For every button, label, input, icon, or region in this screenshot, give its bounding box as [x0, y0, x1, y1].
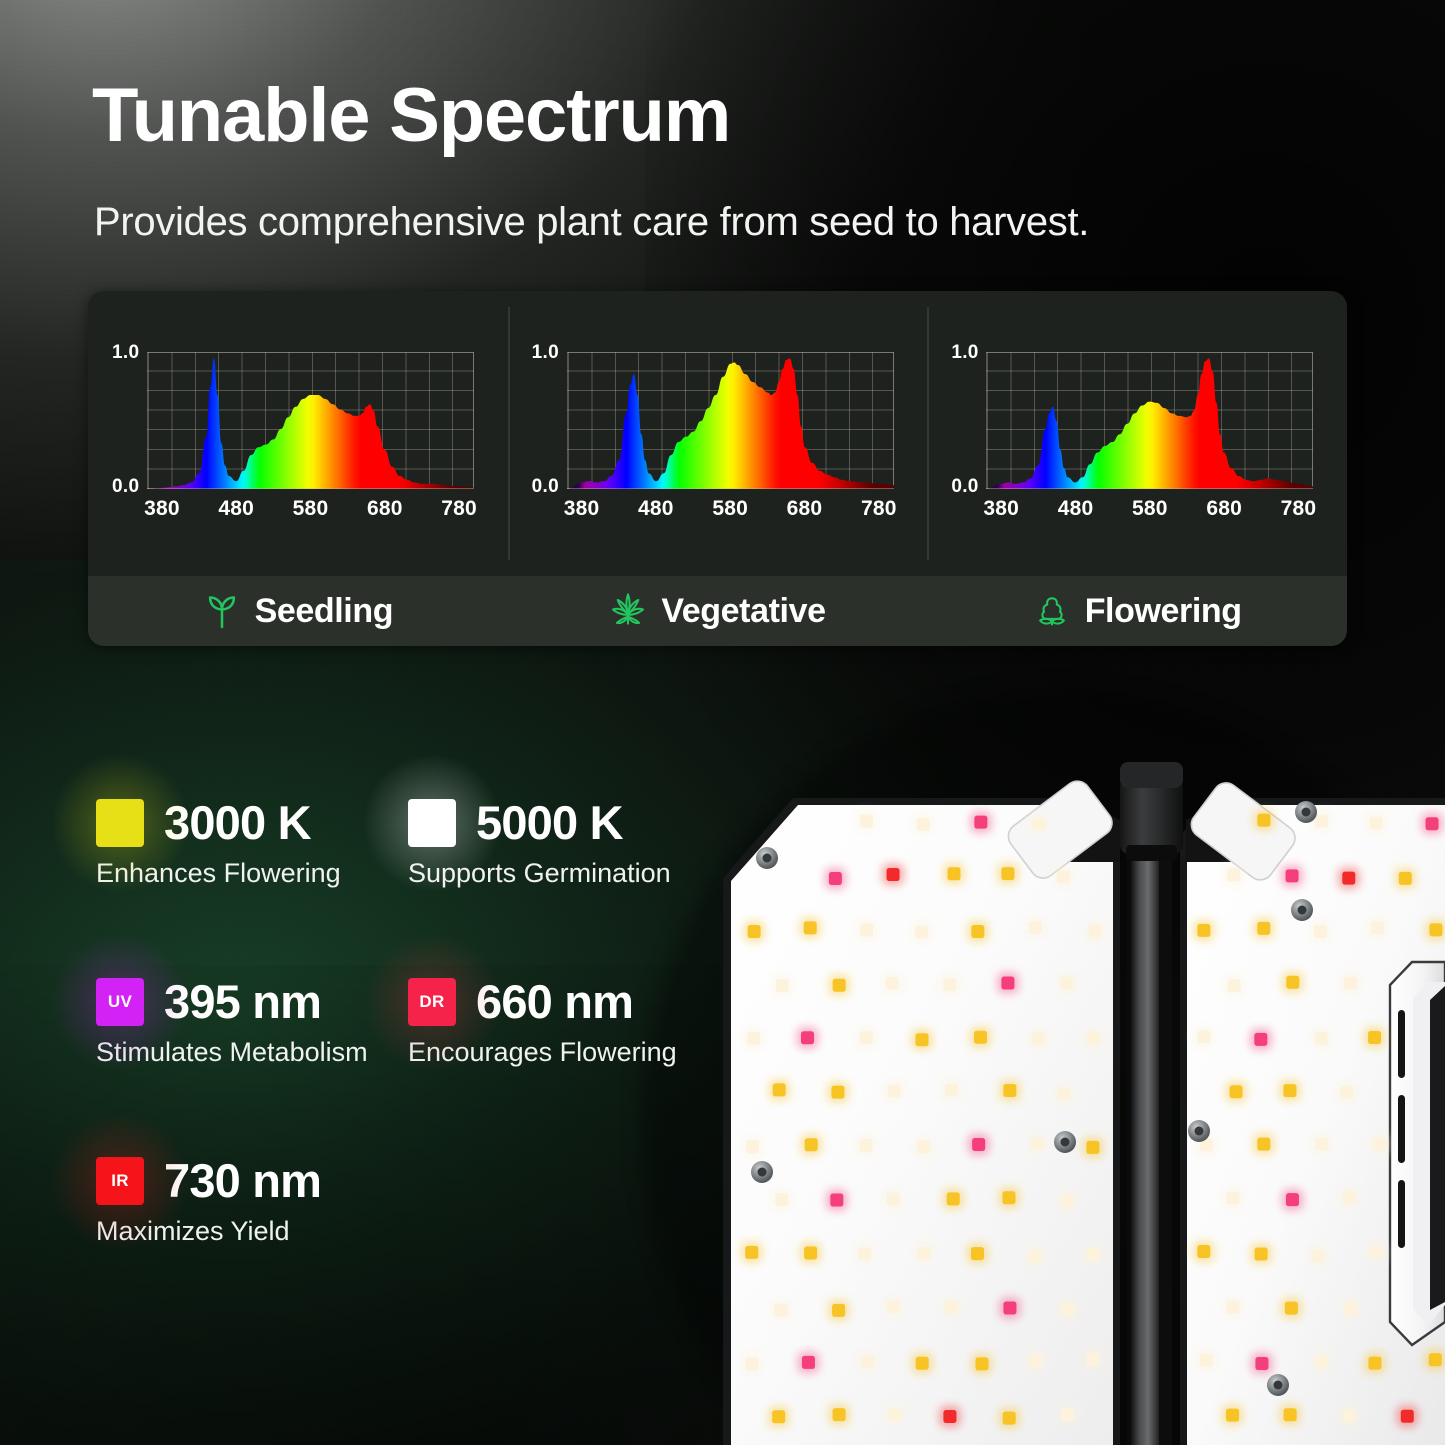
spec-item-395nm: UV395 nmStimulates Metabolism	[96, 974, 368, 1068]
swatch-container: DR	[408, 978, 456, 1026]
x-axis-tick: 380	[564, 497, 600, 521]
spec-item-730nm: IR730 nmMaximizes Yield	[96, 1153, 321, 1247]
plot-baseline	[986, 488, 1313, 489]
legend-item-seedling[interactable]: Seedling	[88, 576, 508, 646]
x-axis-ticks: 380480580680780	[567, 497, 894, 527]
x-axis-tick: 780	[1281, 497, 1317, 521]
y-axis-tick-max: 1.0	[951, 342, 978, 364]
swatch-container	[408, 799, 456, 847]
x-axis-tick: 480	[1058, 497, 1094, 521]
legend-item-vegetative[interactable]: Vegetative	[508, 576, 928, 646]
legend-label: Vegetative	[661, 592, 825, 631]
spec-item-3000k: 3000 KEnhances Flowering	[96, 795, 341, 889]
spec-value: 5000 K	[476, 795, 623, 850]
cool-white-swatch	[408, 799, 456, 847]
spectrum-chart-vegetative: 1.00.0380480580680780	[508, 291, 928, 576]
legend-label: Seedling	[255, 592, 394, 631]
growth-stage-legend: SeedlingVegetativeFlowering	[88, 576, 1347, 646]
x-axis-tick: 780	[441, 497, 477, 521]
spec-description: Stimulates Metabolism	[96, 1037, 368, 1068]
swatch-container	[96, 799, 144, 847]
x-axis-tick: 580	[712, 497, 748, 521]
x-axis-tick: 680	[787, 497, 823, 521]
x-axis-tick: 480	[638, 497, 674, 521]
flower-bud-icon	[1033, 592, 1071, 630]
spectrum-card: 1.00.03804805806807801.00.03804805806807…	[88, 291, 1347, 646]
x-axis-tick: 380	[144, 497, 180, 521]
spectrum-charts-row: 1.00.03804805806807801.00.03804805806807…	[88, 291, 1347, 576]
page-title: Tunable Spectrum	[92, 78, 730, 154]
sprout-icon	[203, 592, 241, 630]
x-axis-tick: 580	[1132, 497, 1168, 521]
infrared-swatch: IR	[96, 1157, 144, 1205]
plot-area	[567, 352, 894, 489]
plot-baseline	[147, 488, 474, 489]
spec-description: Enhances Flowering	[96, 858, 341, 889]
x-axis-tick: 580	[293, 497, 329, 521]
legend-item-flowering[interactable]: Flowering	[927, 576, 1347, 646]
plot-area	[147, 352, 474, 489]
spectrum-chart-flowering: 1.00.0380480580680780	[927, 291, 1347, 576]
x-axis-tick: 680	[367, 497, 403, 521]
x-axis-ticks: 380480580680780	[986, 497, 1313, 527]
spectrum-curve	[567, 352, 894, 489]
spectrum-curve	[986, 352, 1313, 489]
plot-baseline	[567, 488, 894, 489]
x-axis-tick: 480	[218, 497, 254, 521]
x-axis-tick: 380	[983, 497, 1019, 521]
swatch-container: IR	[96, 1157, 144, 1205]
spec-item-660nm: DR660 nmEncourages Flowering	[408, 974, 677, 1068]
spec-value: 3000 K	[164, 795, 311, 850]
legend-label: Flowering	[1085, 592, 1242, 631]
spec-description: Supports Germination	[408, 858, 671, 889]
spec-value: 730 nm	[164, 1153, 321, 1208]
warm-white-swatch	[96, 799, 144, 847]
plot-area	[986, 352, 1313, 489]
x-axis-tick: 780	[861, 497, 897, 521]
cannabis-leaf-icon	[609, 592, 647, 630]
y-axis-tick-min: 0.0	[951, 476, 978, 498]
spec-item-5000k: 5000 KSupports Germination	[408, 795, 671, 889]
x-axis-ticks: 380480580680780	[147, 497, 474, 527]
spec-description: Encourages Flowering	[408, 1037, 677, 1068]
y-axis-tick-max: 1.0	[532, 342, 559, 364]
y-axis-tick-max: 1.0	[112, 342, 139, 364]
y-axis-tick-min: 0.0	[112, 476, 139, 498]
deep-red-swatch: DR	[408, 978, 456, 1026]
page-subtitle: Provides comprehensive plant care from s…	[94, 200, 1089, 245]
spec-description: Maximizes Yield	[96, 1216, 321, 1247]
x-axis-tick: 680	[1206, 497, 1242, 521]
swatch-container: UV	[96, 978, 144, 1026]
spectrum-curve	[147, 352, 474, 489]
spec-value: 395 nm	[164, 974, 321, 1029]
uv-swatch: UV	[96, 978, 144, 1026]
spec-value: 660 nm	[476, 974, 633, 1029]
spectrum-chart-seedling: 1.00.0380480580680780	[88, 291, 508, 576]
y-axis-tick-min: 0.0	[532, 476, 559, 498]
